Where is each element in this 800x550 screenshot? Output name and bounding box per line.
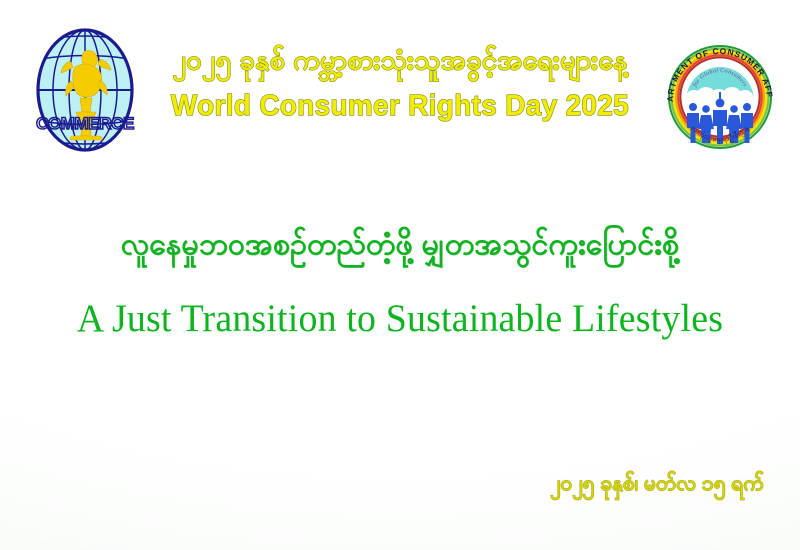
commerce-globe-logo: COMMERCE	[30, 25, 140, 155]
theme-burmese: လူနေမှုဘဝအစဉ်တည်တံ့ဖို့ မျှတအသွင်ကူးပြော…	[0, 225, 800, 264]
title-english: World Consumer Rights Day 2025	[160, 90, 640, 123]
poster-canvas: COMMERCE	[0, 0, 800, 550]
date-burmese: ၂၀၂၅ ခုနှစ်၊ မတ်လ ၁၅ ရက်	[550, 470, 764, 501]
title-burmese: ၂၀၂၅ ခုနှစ် ကမ္ဘာ့စားသုံးသူအခွင့်အရေးမျာ…	[150, 44, 650, 78]
department-of-consumer-affairs-logo: DEPARTMENT OF CONSUMER AFFAIRS for Globa…	[660, 25, 780, 165]
poster-header: COMMERCE	[0, 0, 800, 175]
title-block: ၂၀၂၅ ခုနှစ် ကမ္ဘာ့စားသုံးသူအခွင့်အရေးမျာ…	[150, 44, 650, 123]
commerce-wordmark: COMMERCE	[36, 114, 134, 133]
theme-english: A Just Transition to Sustainable Lifesty…	[12, 296, 788, 341]
theme-block: လူနေမှုဘဝအစဉ်တည်တံ့ဖို့ မျှတအသွင်ကူးပြော…	[0, 225, 800, 341]
